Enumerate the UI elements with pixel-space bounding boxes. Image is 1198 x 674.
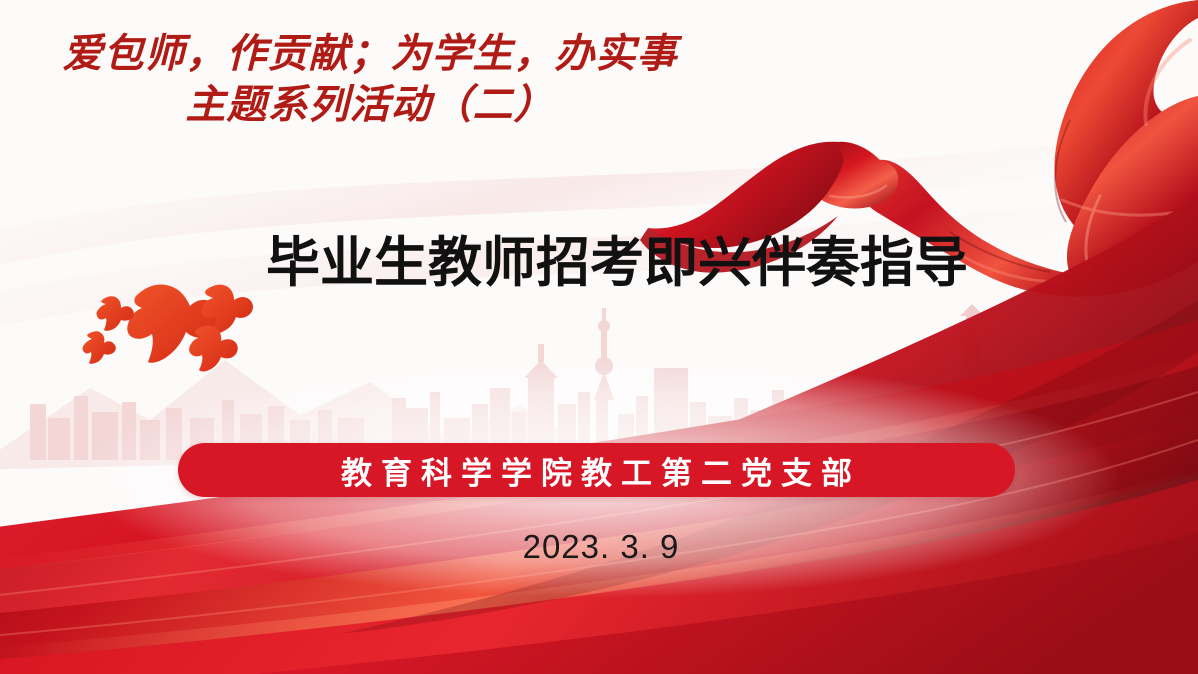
date-label: 2023. 3. 9: [2, 528, 1198, 566]
campaign-heading-line1: 爱包师，作贡献；为学生，办实事: [0, 28, 740, 79]
organization-banner: 教育科学学院教工第二党支部: [178, 443, 1015, 497]
organization-banner-label: 教育科学学院教工第二党支部: [332, 448, 861, 493]
campaign-heading: 爱包师，作贡献；为学生，办实事 主题系列活动（二）: [0, 28, 740, 130]
page-title: 毕业生教师招考即兴伴奏指导: [18, 234, 1198, 292]
title-slide: 爱包师，作贡献；为学生，办实事 主题系列活动（二） 毕业生教师招考即兴伴奏指导 …: [0, 0, 1198, 674]
campaign-heading-line2: 主题系列活动（二）: [0, 79, 740, 130]
